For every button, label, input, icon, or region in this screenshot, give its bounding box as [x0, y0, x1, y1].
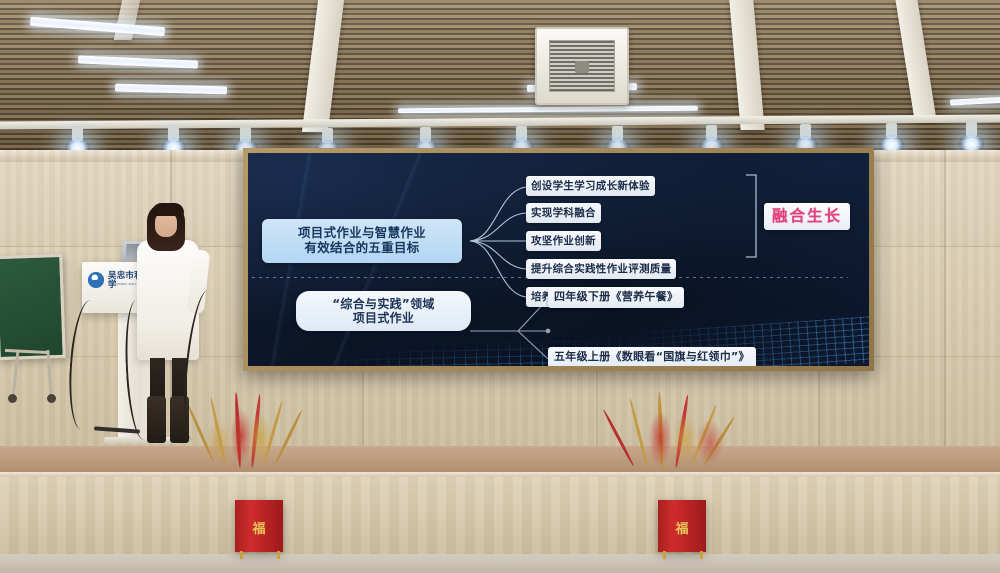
planter-pot: 福 [235, 500, 283, 552]
school-logo-icon [88, 272, 104, 288]
spot-light [966, 122, 977, 137]
goal-item[interactable]: 创设学生学习成长新体验 [526, 176, 655, 196]
wall-seam [944, 150, 946, 446]
lower-node-line1: “综合与实践”领域 [332, 297, 434, 311]
goal-item[interactable]: 实现学科融合 [526, 203, 601, 223]
hall-floor [0, 554, 1000, 573]
central-node-line1: 项目式作业与智慧作业 [298, 226, 426, 241]
spot-light [420, 127, 431, 142]
planter-pot: 福 [658, 500, 706, 552]
spot-light [516, 126, 527, 141]
ac-center-panel [575, 61, 589, 73]
case-item[interactable]: 四年级下册《营养午餐》 [548, 287, 684, 308]
fu-character: 福 [235, 518, 283, 537]
central-node-line2: 有效结合的五重目标 [298, 241, 426, 256]
mindmap-central-node[interactable]: 项目式作业与智慧作业 有效结合的五重目标 [262, 219, 462, 263]
spot-light [168, 126, 179, 141]
auditorium-scene: 项目式作业与智慧作业 有效结合的五重目标 创设学生学习成长新体验 实现学科融合 … [0, 0, 1000, 573]
spot-light [322, 128, 333, 143]
chalkboard-caster [47, 394, 56, 403]
mindmap-lower-node[interactable]: “综合与实践”领域 项目式作业 [296, 291, 471, 331]
spot-light [240, 127, 251, 142]
spot-light [886, 123, 897, 138]
air-conditioner-icon [535, 27, 629, 105]
dried-berry-cluster [696, 420, 724, 464]
spot-light [612, 126, 623, 141]
ceiling-slats [0, 0, 1000, 152]
summary-node[interactable]: 融合生长 [764, 203, 850, 230]
green-chalkboard[interactable] [0, 254, 66, 360]
stage-face-texture [0, 477, 1000, 555]
planter-leg [700, 551, 703, 559]
speaker-hair-fringe [152, 203, 184, 216]
stage-surface [0, 446, 1000, 474]
chalkboard-caster [8, 394, 17, 403]
dried-berry-cluster [648, 410, 672, 466]
presentation-slide[interactable]: 项目式作业与智慧作业 有效结合的五重目标 创设学生学习成长新体验 实现学科融合 … [248, 153, 869, 366]
dried-berry-cluster [206, 420, 232, 464]
presentation-screen-frame: 项目式作业与智慧作业 有效结合的五重目标 创设学生学习成长新体验 实现学科融合 … [243, 148, 874, 371]
dried-berry-cluster [248, 412, 272, 464]
spot-light [72, 126, 83, 141]
lower-node-line2: 项目式作业 [332, 311, 434, 325]
goal-item[interactable]: 提升综合实践性作业评测质量 [526, 259, 676, 279]
spot-light [706, 125, 717, 140]
dried-berry-cluster [672, 414, 698, 464]
planter-leg [277, 551, 280, 559]
case-item[interactable]: 五年级上册《数眼看“国旗与红领巾”》 [548, 347, 756, 366]
fu-character: 福 [658, 518, 706, 537]
goal-item[interactable]: 攻坚作业创新 [526, 231, 601, 251]
spot-light [800, 124, 811, 139]
ceiling-shading [0, 0, 1000, 152]
planter-leg [663, 551, 666, 559]
planter-leg [240, 551, 243, 559]
